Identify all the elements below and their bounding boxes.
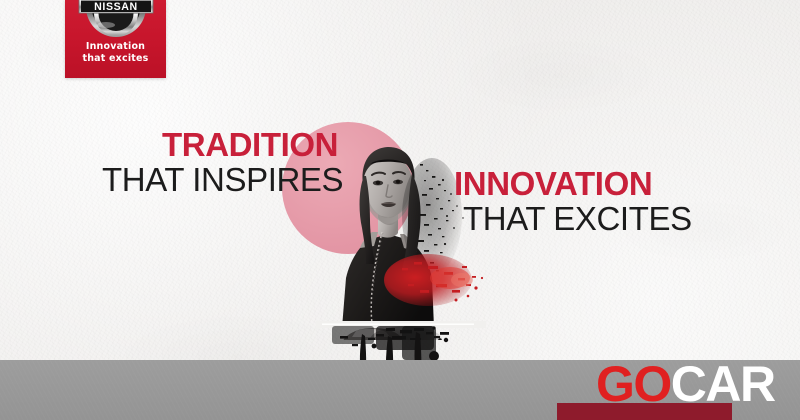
gocar-logo[interactable]: GOCAR	[596, 358, 775, 410]
headline-right: INNOVATION THAT EXCITES	[454, 167, 692, 237]
headline-right-rest: THAT EXCITES	[463, 201, 692, 237]
svg-text:NISSAN: NISSAN	[94, 1, 138, 13]
nissan-logo-badge[interactable]: NISSAN Innovation that excites	[65, 0, 166, 78]
promo-banner: NISSAN Innovation that excites	[0, 0, 800, 420]
nissan-tagline: Innovation that excites	[82, 41, 148, 64]
nissan-tagline-line1: Innovation	[82, 41, 148, 53]
nissan-emblem-icon: NISSAN	[77, 0, 155, 39]
gocar-logo-go: GO	[596, 356, 671, 412]
headline-left-rest: THAT INSPIRES	[102, 162, 343, 198]
nissan-tagline-line2: that excites	[82, 53, 148, 65]
gocar-logo-car: CAR	[671, 356, 775, 412]
headline-left-emphasis: TRADITION	[162, 128, 343, 162]
headline-right-emphasis: INNOVATION	[454, 167, 692, 201]
headline-left: TRADITION THAT INSPIRES	[162, 128, 343, 198]
